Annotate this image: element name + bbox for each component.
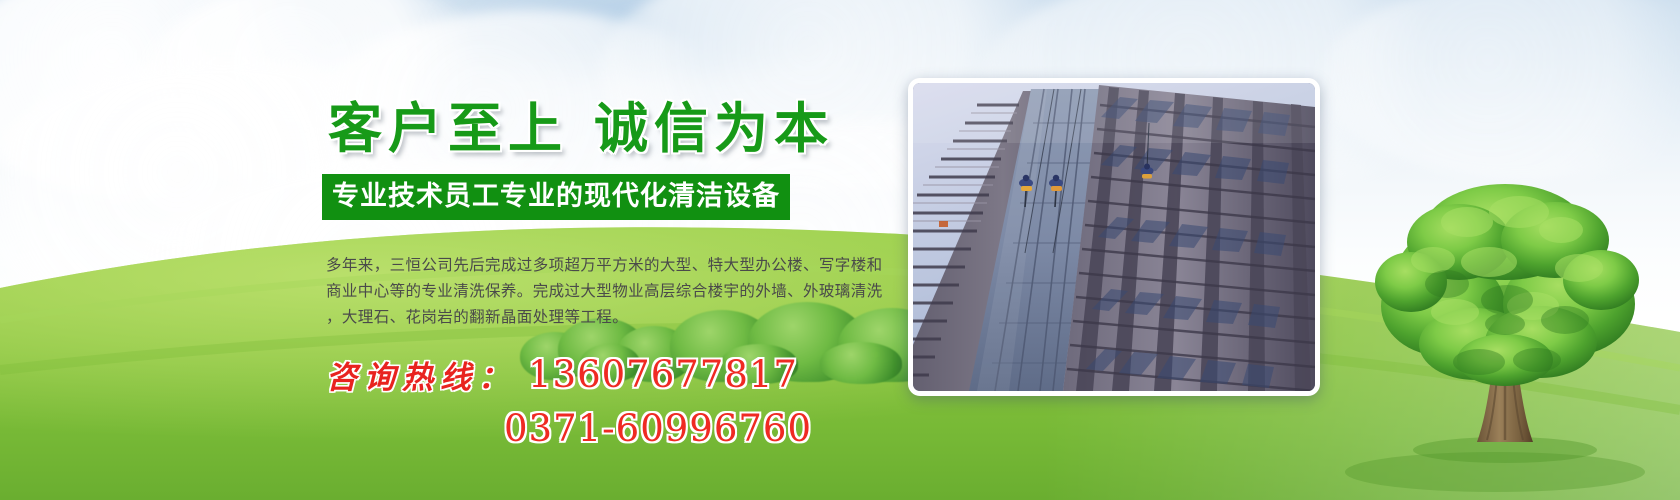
- text-content-block: 客户至上诚信为本 专业技术员工专业的现代化清洁设备 多年来，三恒公司先后完成过多…: [322, 96, 902, 450]
- sky-blue-patch-2: [430, 0, 850, 80]
- promo-banner: 客户至上诚信为本 专业技术员工专业的现代化清洁设备 多年来，三恒公司先后完成过多…: [0, 0, 1680, 500]
- hotline-block: 咨询热线：13607677817 0371-60996760: [326, 352, 902, 450]
- building-cleaning-photo[interactable]: [908, 78, 1320, 396]
- skyscraper-illustration: [913, 83, 1315, 391]
- cloud-icon: [1320, 0, 1680, 180]
- page-title: 客户至上诚信为本: [328, 96, 902, 160]
- headline-part-left: 客户至上: [328, 96, 568, 160]
- hotline-phone-secondary[interactable]: 0371-60996760: [504, 407, 902, 450]
- paragraph-line: 多年来，三恒公司先后完成过多项超万平方米的大型、特大型办公楼、写字楼和: [326, 252, 891, 278]
- description-paragraph: 多年来，三恒公司先后完成过多项超万平方米的大型、特大型办公楼、写字楼和 商业中心…: [326, 252, 891, 330]
- sky-blue-patch: [60, 0, 360, 80]
- hotline-label: 咨询热线：: [326, 360, 516, 396]
- paragraph-line: 商业中心等的专业清洗保养。完成过大型物业高层综合楼宇的外墙、外玻璃清洗: [326, 278, 891, 304]
- subtitle-bar: 专业技术员工专业的现代化清洁设备: [322, 174, 790, 220]
- paragraph-line: ，大理石、花岗岩的翻新晶面处理等工程。: [326, 304, 891, 330]
- tree-icon: [1355, 164, 1655, 464]
- headline-part-right: 诚信为本: [594, 96, 834, 160]
- foreground-tree: [1355, 164, 1655, 464]
- hotline-phone-primary[interactable]: 13607677817: [528, 353, 798, 396]
